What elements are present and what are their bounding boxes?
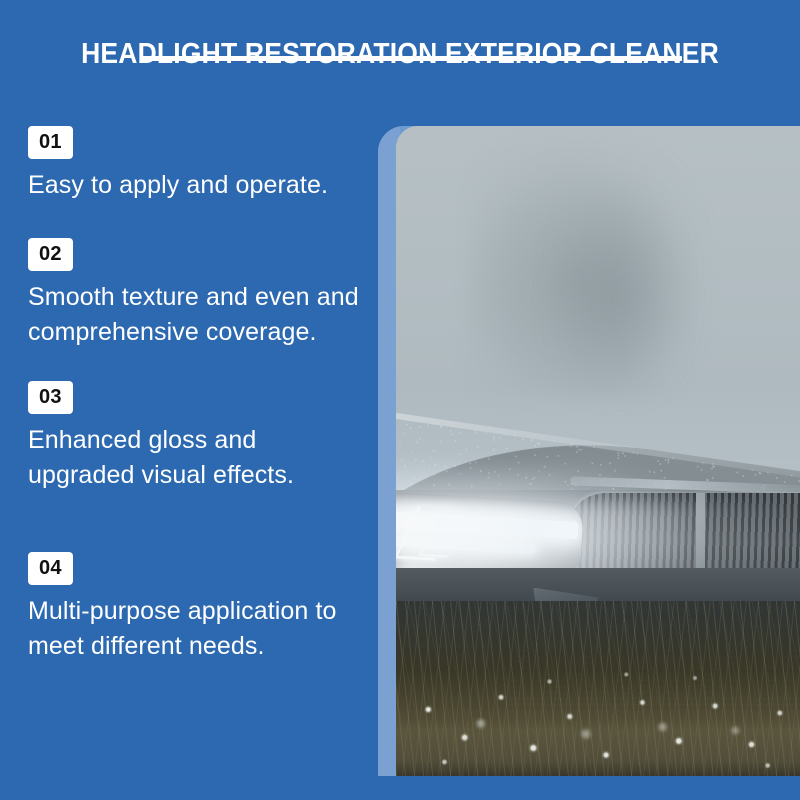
feature-text: Multi-purpose application to meet differ… <box>28 594 368 665</box>
list-item: 02 Smooth texture and even and comprehen… <box>28 238 368 351</box>
feature-list: 01 Easy to apply and operate. 02 Smooth … <box>28 126 368 665</box>
feature-number-badge: 04 <box>28 552 73 585</box>
list-item: 01 Easy to apply and operate. <box>28 126 368 204</box>
feature-number-badge: 01 <box>28 126 73 159</box>
product-photo-frame <box>378 126 800 776</box>
header: HEADLIGHT RESTORATION EXTERIOR CLEANER <box>0 38 800 71</box>
page-title: HEADLIGHT RESTORATION EXTERIOR CLEANER <box>28 38 772 71</box>
dew-bokeh-soft <box>396 601 800 777</box>
dewy-grass <box>396 601 800 777</box>
feature-number-badge: 02 <box>28 238 73 271</box>
feature-text: Enhanced gloss and upgraded visual effec… <box>28 423 368 494</box>
feature-text: Smooth texture and even and comprehensiv… <box>28 280 368 351</box>
list-item: 04 Multi-purpose application to meet dif… <box>28 552 368 665</box>
feature-number-badge: 03 <box>28 381 73 414</box>
car-headlight-photo <box>396 126 800 776</box>
feature-text: Easy to apply and operate. <box>28 168 368 204</box>
list-item: 03 Enhanced gloss and upgraded visual ef… <box>28 381 368 494</box>
tree-silhouette-secondary <box>550 191 687 399</box>
product-infographic: HEADLIGHT RESTORATION EXTERIOR CLEANER 0… <box>0 0 800 800</box>
title-divider <box>142 56 682 61</box>
